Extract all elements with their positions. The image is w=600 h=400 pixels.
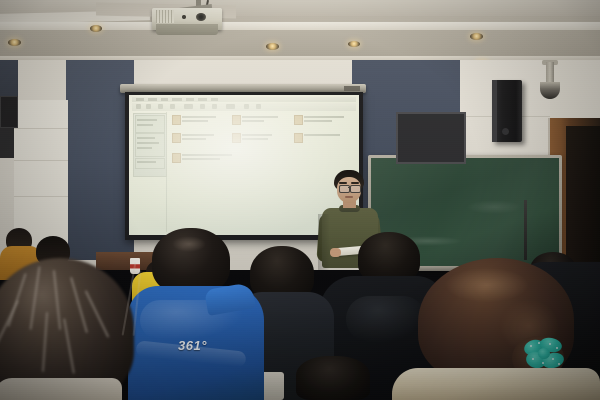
downlight-icon [90,25,102,32]
projected-nav-line [137,161,156,163]
downlight-icon [266,43,279,50]
projected-item-label [242,138,268,140]
hair-bow-icon [524,338,566,370]
projected-toolbar-icon [136,104,141,109]
projected-item-tile [232,132,284,145]
loudspeaker-edge [492,80,497,142]
student-coat-foreground [0,378,122,400]
projected-item-icon [172,153,181,163]
projected-item-label [242,116,278,118]
camera-stem [546,62,554,84]
projected-toolbar-icon [158,104,163,109]
projected-item-label [182,154,232,156]
pointer-stick[interactable] [524,200,527,260]
projected-toolbar-icon [256,104,261,109]
projected-menu-item [148,98,157,101]
jacket-sheen [346,296,426,342]
projected-item-label [304,120,332,122]
projected-menu-item [186,98,194,101]
projected-toolbar-icon [200,104,205,109]
projected-toolbar-icon [184,104,193,109]
presenter-mouth [345,196,353,198]
projector-vent [156,10,174,23]
projected-nav-line [137,137,155,139]
projected-nav-group [135,158,165,169]
projected-item-label [182,120,208,122]
projected-toolbar-icon [170,104,175,109]
projected-item-tile [172,152,242,165]
projector-body [156,24,218,35]
projected-item-tile [172,132,224,145]
projected-item-label [182,134,214,136]
projected-item-tile [232,114,284,127]
projected-item-label [242,120,264,122]
downlight-icon [8,39,21,46]
downlight-icon [348,41,360,47]
projected-toolbar-icon [226,104,235,109]
projected-item-label [182,158,220,160]
projected-menu-item [172,98,182,101]
projected-menu-item [211,98,218,101]
wall-mounted-box-left [0,96,18,128]
presenter-eyebrow-right [351,182,359,184]
presenter-hand [330,248,341,257]
loudspeaker-cone [502,128,509,135]
blackboard-chalk-smudge [466,200,522,214]
projected-item-label [304,134,340,136]
projected-item-label [182,138,206,140]
wall-mounted-panel-right [396,112,466,164]
projected-item-label [182,116,216,118]
hair-highlight [172,236,206,252]
projected-toolbar-icon [212,104,217,109]
jacket-brand-logo: 361° [178,338,218,354]
projected-toolbar-icon [244,104,249,109]
projected-item-tile [172,114,224,127]
projector-lens [196,13,206,21]
projected-item-icon [172,133,181,143]
student-head [296,356,370,400]
eyeglasses-icon [350,185,361,193]
projected-item-icon [232,133,241,143]
projected-toolbar-icon [146,104,151,109]
projected-item-icon [172,115,181,125]
classroom-photo: 361° [0,0,600,400]
projected-menu-item [161,98,168,101]
projected-menu-item [136,98,144,101]
projected-item-icon [232,115,241,125]
eyeglasses-bridge [348,187,351,188]
projected-item-tile [294,114,348,127]
projected-item-label [242,134,272,136]
projector-indicator [182,15,186,19]
projected-nav-line [137,147,152,149]
student-coat-shoulder [392,368,600,400]
presenter-eyebrow-left [339,182,347,184]
wall-seam [14,160,68,161]
projected-nav-line [137,119,157,121]
doorway-opening[interactable] [566,126,600,268]
presenter-shading [318,214,330,270]
projection-screen-housing-cap [344,86,360,91]
projected-item-tile [294,132,348,145]
projected-nav-line [137,142,159,144]
hair-highlight [446,268,528,302]
projected-item-label [304,116,344,118]
projected-nav-line [137,124,153,126]
downlight-icon [470,33,483,40]
wall-seam [14,128,68,129]
projected-item-icon [294,115,303,125]
wall-seam [14,196,68,197]
projected-menu-item [198,98,207,101]
projected-item-icon [294,133,303,143]
